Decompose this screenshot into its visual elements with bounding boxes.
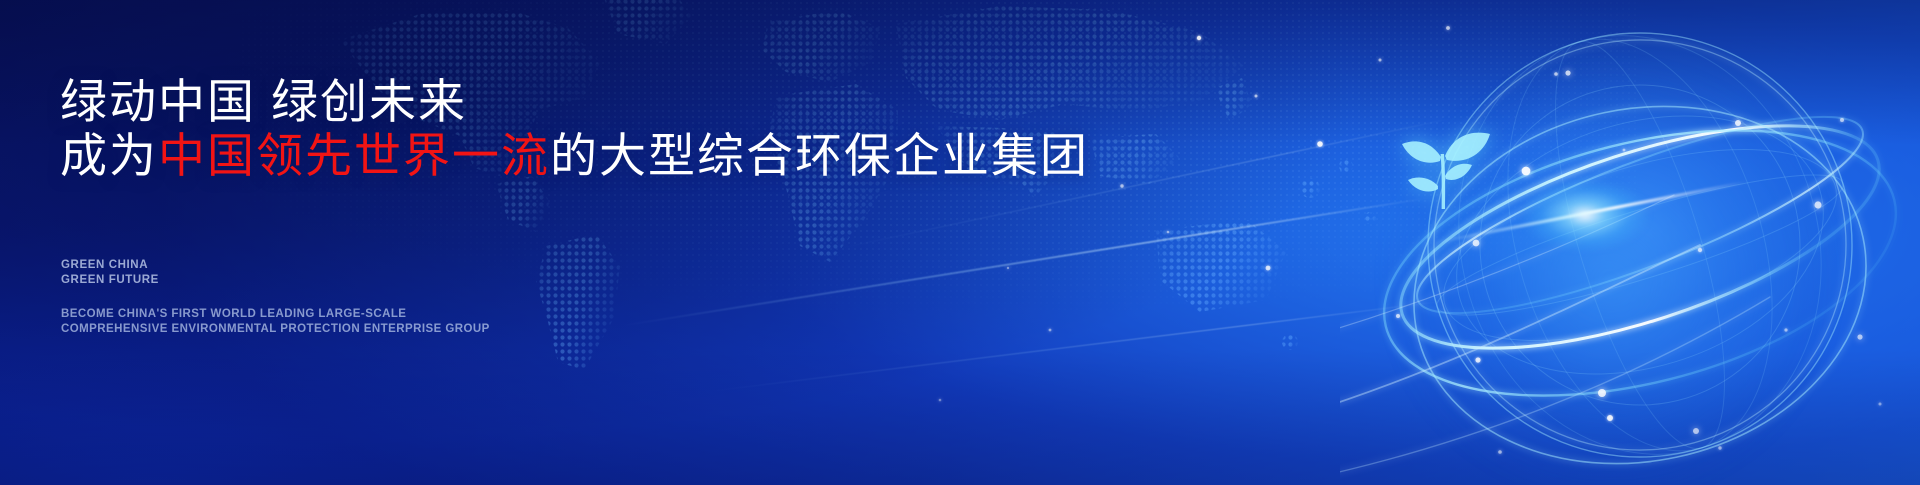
english-tagline: BECOME CHINA'S FIRST WORLD LEADING LARGE… [61, 307, 490, 338]
english-slogan-line-1: GREEN CHINA [61, 258, 159, 273]
headline-block: 绿动中国 绿创未来 成为中国领先世界一流的大型综合环保企业集团 GREEN CH… [60, 0, 1060, 485]
headline-prefix: 成为 [60, 129, 158, 182]
headline-suffix: 的大型综合环保企业集团 [550, 129, 1089, 182]
sprout-icon [1392, 110, 1496, 210]
english-tagline-line-1: BECOME CHINA'S FIRST WORLD LEADING LARGE… [61, 307, 490, 322]
headline-line-1: 绿动中国 绿创未来 [60, 78, 467, 125]
headline-accent: 中国领先世界一流 [158, 129, 550, 182]
globe-graphic [1340, 0, 1920, 485]
english-tagline-line-2: COMPREHENSIVE ENVIRONMENTAL PROTECTION E… [61, 322, 490, 337]
english-slogan: GREEN CHINA GREEN FUTURE [61, 258, 159, 289]
headline-line-2: 成为中国领先世界一流的大型综合环保企业集团 [60, 132, 1089, 179]
english-slogan-line-2: GREEN FUTURE [61, 273, 159, 288]
hero-banner: 绿动中国 绿创未来 成为中国领先世界一流的大型综合环保企业集团 GREEN CH… [0, 0, 1920, 485]
